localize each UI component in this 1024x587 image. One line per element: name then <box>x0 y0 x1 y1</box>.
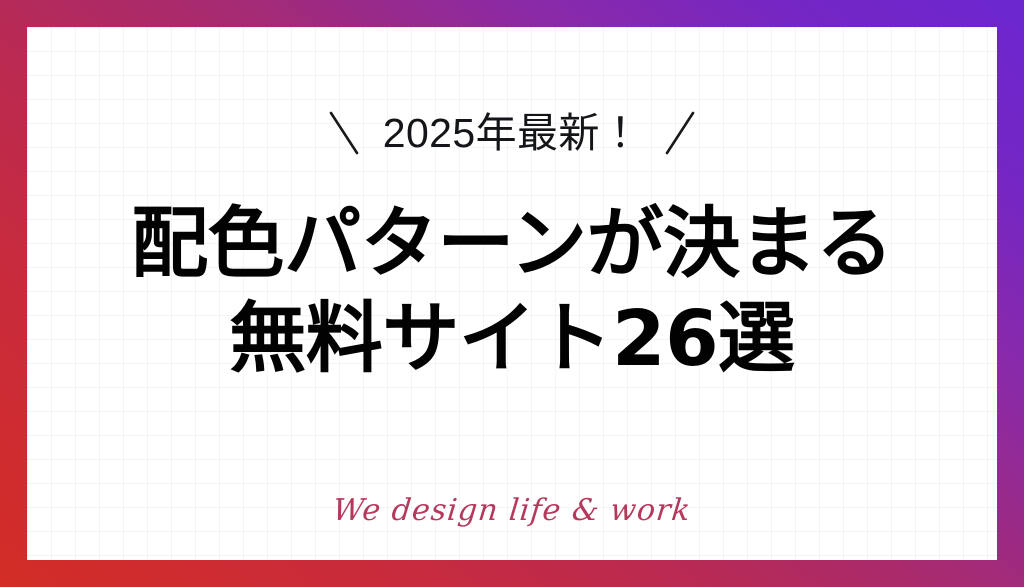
headline-line-1: 配色パターンが決まる <box>131 197 893 292</box>
headline: 配色パターンが決まる 無料サイト26選 <box>131 197 893 388</box>
left-slash-icon <box>327 109 361 157</box>
headline-line-2: 無料サイト26選 <box>131 292 893 387</box>
eyebrow-row: 2025年最新！ <box>327 105 698 161</box>
tagline: We design life & work <box>332 496 693 526</box>
eyebrow-text: 2025年最新！ <box>383 113 642 154</box>
paper-canvas: 2025年最新！ 配色パターンが決まる 無料サイト26選 We design l… <box>27 27 997 560</box>
eyecatch-banner: 2025年最新！ 配色パターンが決まる 無料サイト26選 We design l… <box>0 0 1024 587</box>
right-slash-icon <box>663 109 697 157</box>
